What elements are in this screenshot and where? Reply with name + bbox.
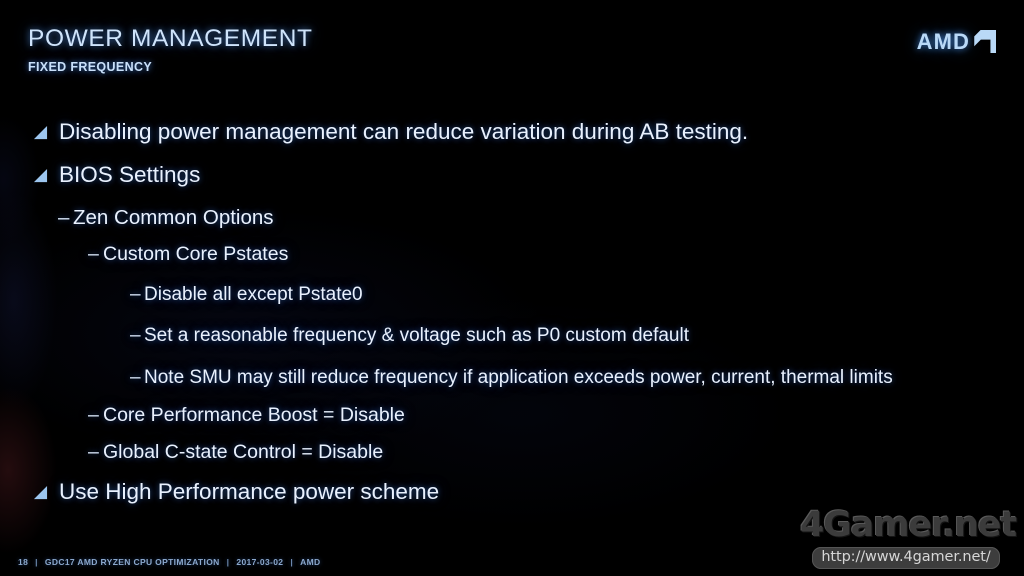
bullet-level3: – Custom Core Pstates [0, 243, 1024, 267]
bullet-level4: – Disable all except Pstate0 [0, 280, 1024, 309]
bullet-text: Zen Common Options [73, 205, 1024, 230]
bullet-text: BIOS Settings [59, 161, 1024, 188]
amd-logo: AMD [917, 30, 996, 53]
dash-bullet: – [130, 280, 144, 309]
footer-date: 2017-03-02 [236, 557, 283, 567]
page-title: POWER MANAGEMENT [28, 26, 313, 52]
bullet-text: Use High Performance power scheme [59, 478, 1024, 505]
slide-canvas: POWER MANAGEMENT FIXED FREQUENCY AMD Dis… [0, 0, 1024, 576]
bullet-level3: – Global C-state Control = Disable [0, 441, 1024, 465]
bullet-level1: BIOS Settings [0, 161, 1024, 188]
footer-page-number: 18 [18, 557, 28, 567]
bullet-text: Custom Core Pstates [103, 243, 1024, 267]
bullet-text: Global C-state Control = Disable [103, 441, 1024, 465]
amd-wordmark: AMD [917, 31, 970, 53]
bullet-level1: Disabling power management can reduce va… [0, 118, 1024, 145]
bullet-level4: – Note SMU may still reduce frequency if… [0, 363, 1024, 392]
watermark-brand: 4Gamer.net [800, 508, 1012, 543]
footer-deck-name: GDC17 AMD RYZEN CPU OPTIMIZATION [45, 557, 220, 567]
bullet-text: Disabling power management can reduce va… [59, 118, 1024, 145]
dash-bullet: – [88, 404, 103, 428]
bullet-text: Note SMU may still reduce frequency if a… [144, 363, 1024, 392]
dash-bullet: – [130, 321, 144, 350]
bullet-text: Disable all except Pstate0 [144, 280, 1024, 309]
page-subtitle: FIXED FREQUENCY [28, 60, 313, 74]
watermark: 4Gamer.net http://www.4gamer.net/ [800, 508, 1012, 569]
dash-bullet: – [88, 441, 103, 465]
bullet-level2: – Zen Common Options [0, 205, 1024, 230]
dash-bullet: – [58, 205, 73, 230]
bullet-text: Core Performance Boost = Disable [103, 404, 1024, 428]
bullet-text: Set a reasonable frequency & voltage suc… [144, 321, 1024, 350]
footer-separator: | [35, 557, 38, 567]
slide-header: POWER MANAGEMENT FIXED FREQUENCY [28, 26, 313, 74]
footer-separator: | [227, 557, 230, 567]
slide-body: Disabling power management can reduce va… [0, 118, 1024, 521]
slide-footer: 18 | GDC17 AMD RYZEN CPU OPTIMIZATION | … [18, 557, 321, 567]
bullet-level4: – Set a reasonable frequency & voltage s… [0, 321, 1024, 350]
amd-arrow-icon [973, 30, 996, 53]
triangle-bullet-icon [33, 118, 59, 140]
dash-bullet: – [88, 243, 103, 267]
footer-company: AMD [300, 557, 320, 567]
watermark-url: http://www.4gamer.net/ [812, 547, 999, 569]
footer-separator: | [290, 557, 293, 567]
triangle-bullet-icon [33, 161, 59, 183]
bullet-level1: Use High Performance power scheme [0, 478, 1024, 505]
bullet-level3: – Core Performance Boost = Disable [0, 404, 1024, 428]
triangle-bullet-icon [33, 478, 59, 500]
dash-bullet: – [130, 363, 144, 392]
